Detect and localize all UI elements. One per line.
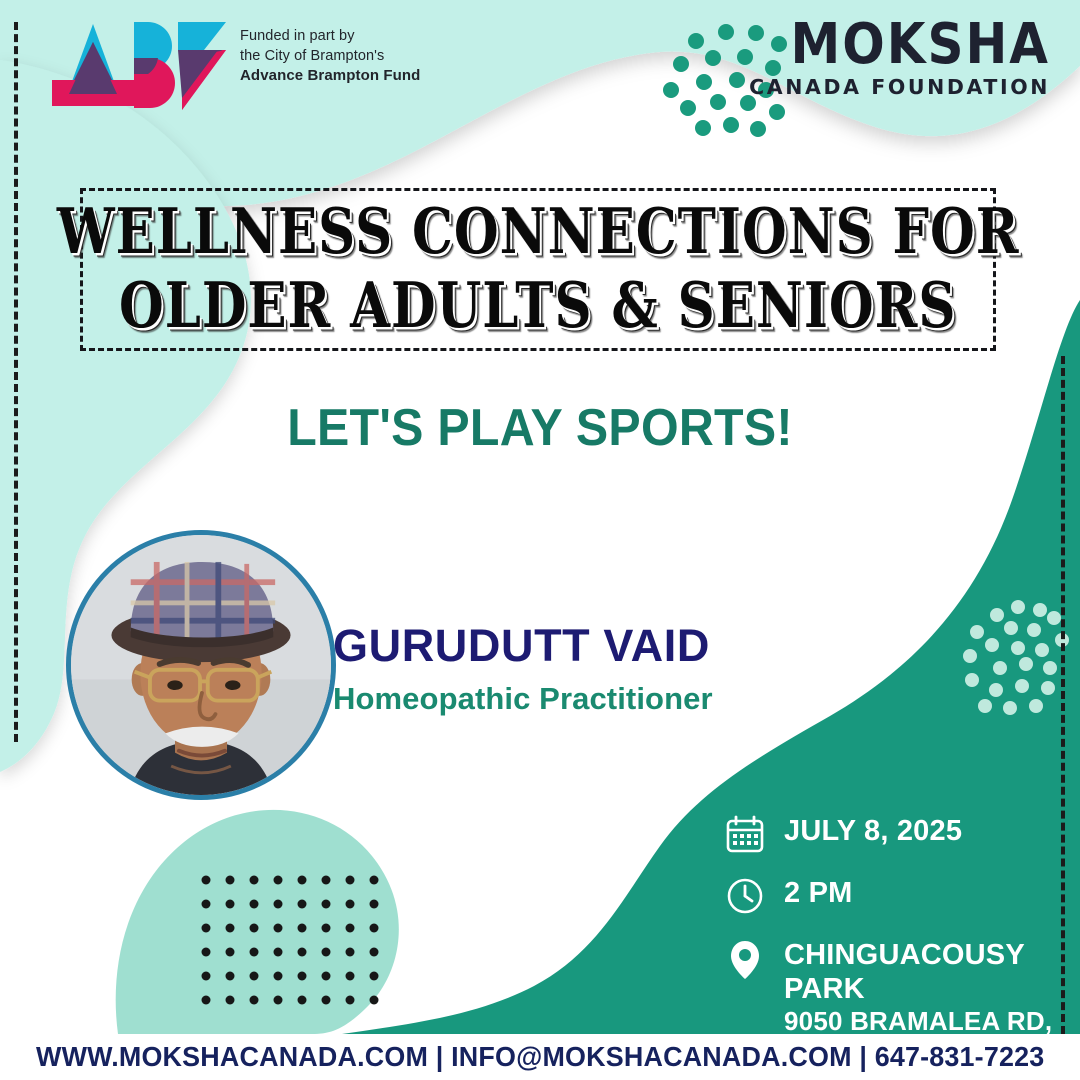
abf-logo-icon [36,14,226,118]
event-poster: Funded in part by the City of Brampton's… [0,0,1080,1080]
venue-street: 9050 BRAMALEA RD, [784,1006,1080,1036]
avatar [66,530,336,800]
org-logo-name: MOKSHA [749,18,1050,70]
funder-line-2: the City of Brampton's [240,46,420,66]
location-pin-icon [722,938,768,982]
dashed-border-left [14,22,18,742]
footer-contact-text[interactable]: WWW.MOKSHACANADA.COM | INFO@MOKSHACANADA… [36,1041,1044,1073]
org-logo-subtitle: CANADA FOUNDATION [749,75,1050,99]
event-time-text: 2 PM [784,874,853,911]
org-logo-block: MOKSHA CANADA FOUNDATION [749,18,1050,99]
funder-text: Funded in part by the City of Brampton's… [240,14,420,87]
page-title-line-1: WELLNESS CONNECTIONS FOR [57,199,1020,267]
poster-title-box: WELLNESS CONNECTIONS FOR OLDER ADULTS & … [80,188,996,351]
speaker-role: Homeopathic Practitioner [333,681,713,717]
venue-name: CHINGUACOUSY PARK [784,939,1024,1005]
funder-line-1: Funded in part by [240,26,420,46]
speaker-block: GURUDUTT VAID Homeopathic Practitioner [333,620,713,717]
poster-subtitle: LET'S PLAY SPORTS! [38,398,1042,458]
speaker-name: GURUDUTT VAID [333,620,713,672]
event-date-row: JULY 8, 2025 [722,812,1080,856]
page-title-line-2: OLDER ADULTS & SENIORS [119,272,957,340]
event-time-row: 2 PM [722,874,1080,918]
clock-icon [722,874,768,918]
calendar-icon [722,812,768,856]
event-date-text: JULY 8, 2025 [784,812,962,849]
footer-bar: WWW.MOKSHACANADA.COM | INFO@MOKSHACANADA… [0,1034,1080,1080]
funder-line-3: Advance Brampton Fund [240,66,420,87]
funder-logo-block: Funded in part by the City of Brampton's… [36,14,420,118]
speaker-photo [71,535,331,795]
